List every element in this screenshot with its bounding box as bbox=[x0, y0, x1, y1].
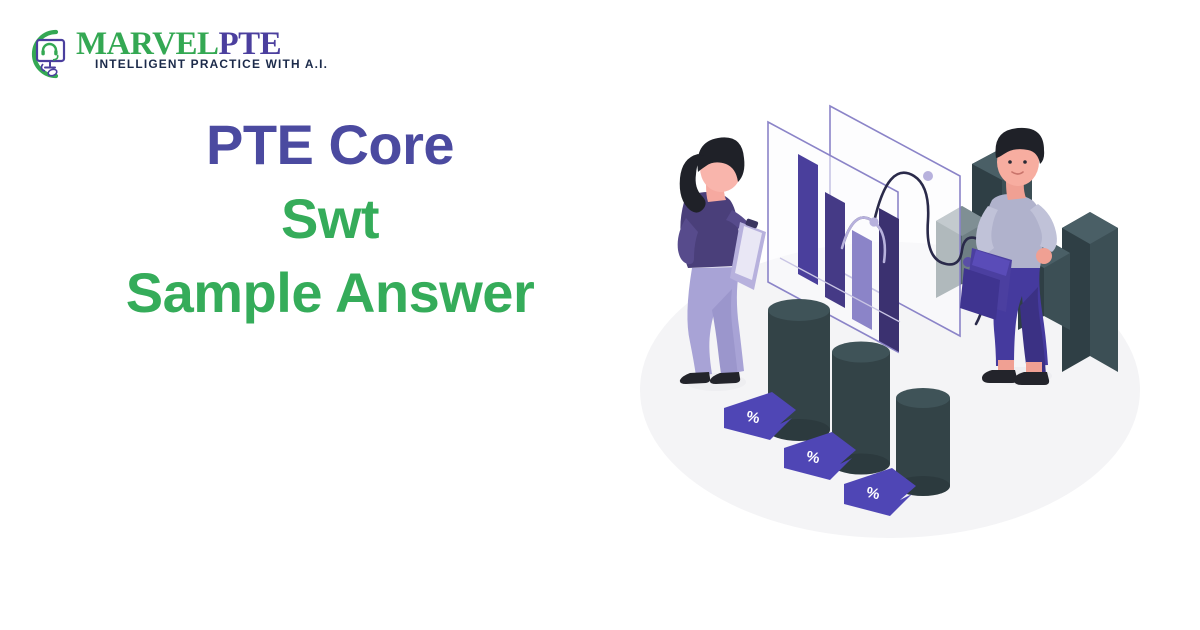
title-line-1: PTE Core bbox=[40, 108, 620, 182]
banner-root: MARVELPTE INTELLIGENT PRACTICE WITH A.I.… bbox=[0, 0, 1200, 630]
bar-3 bbox=[852, 230, 872, 330]
isometric-data-analytics-illustration: % % % bbox=[620, 80, 1180, 580]
trend-dot-1 bbox=[869, 217, 878, 226]
brand-tagline: INTELLIGENT PRACTICE WITH A.I. bbox=[95, 57, 328, 71]
page-title: PTE Core Swt Sample Answer bbox=[40, 108, 620, 330]
title-line-3: Sample Answer bbox=[40, 256, 620, 330]
monitor-headset-icon bbox=[26, 28, 78, 80]
title-line-2: Swt bbox=[40, 182, 620, 256]
trend-dot-2 bbox=[923, 171, 933, 181]
iso-block-medium-right bbox=[1062, 212, 1118, 372]
brand-logo[interactable]: MARVELPTE INTELLIGENT PRACTICE WITH A.I. bbox=[26, 26, 326, 84]
bar-1 bbox=[798, 154, 818, 285]
brand-wordmark: MARVELPTE INTELLIGENT PRACTICE WITH A.I. bbox=[76, 26, 326, 82]
bar-4 bbox=[879, 208, 899, 352]
